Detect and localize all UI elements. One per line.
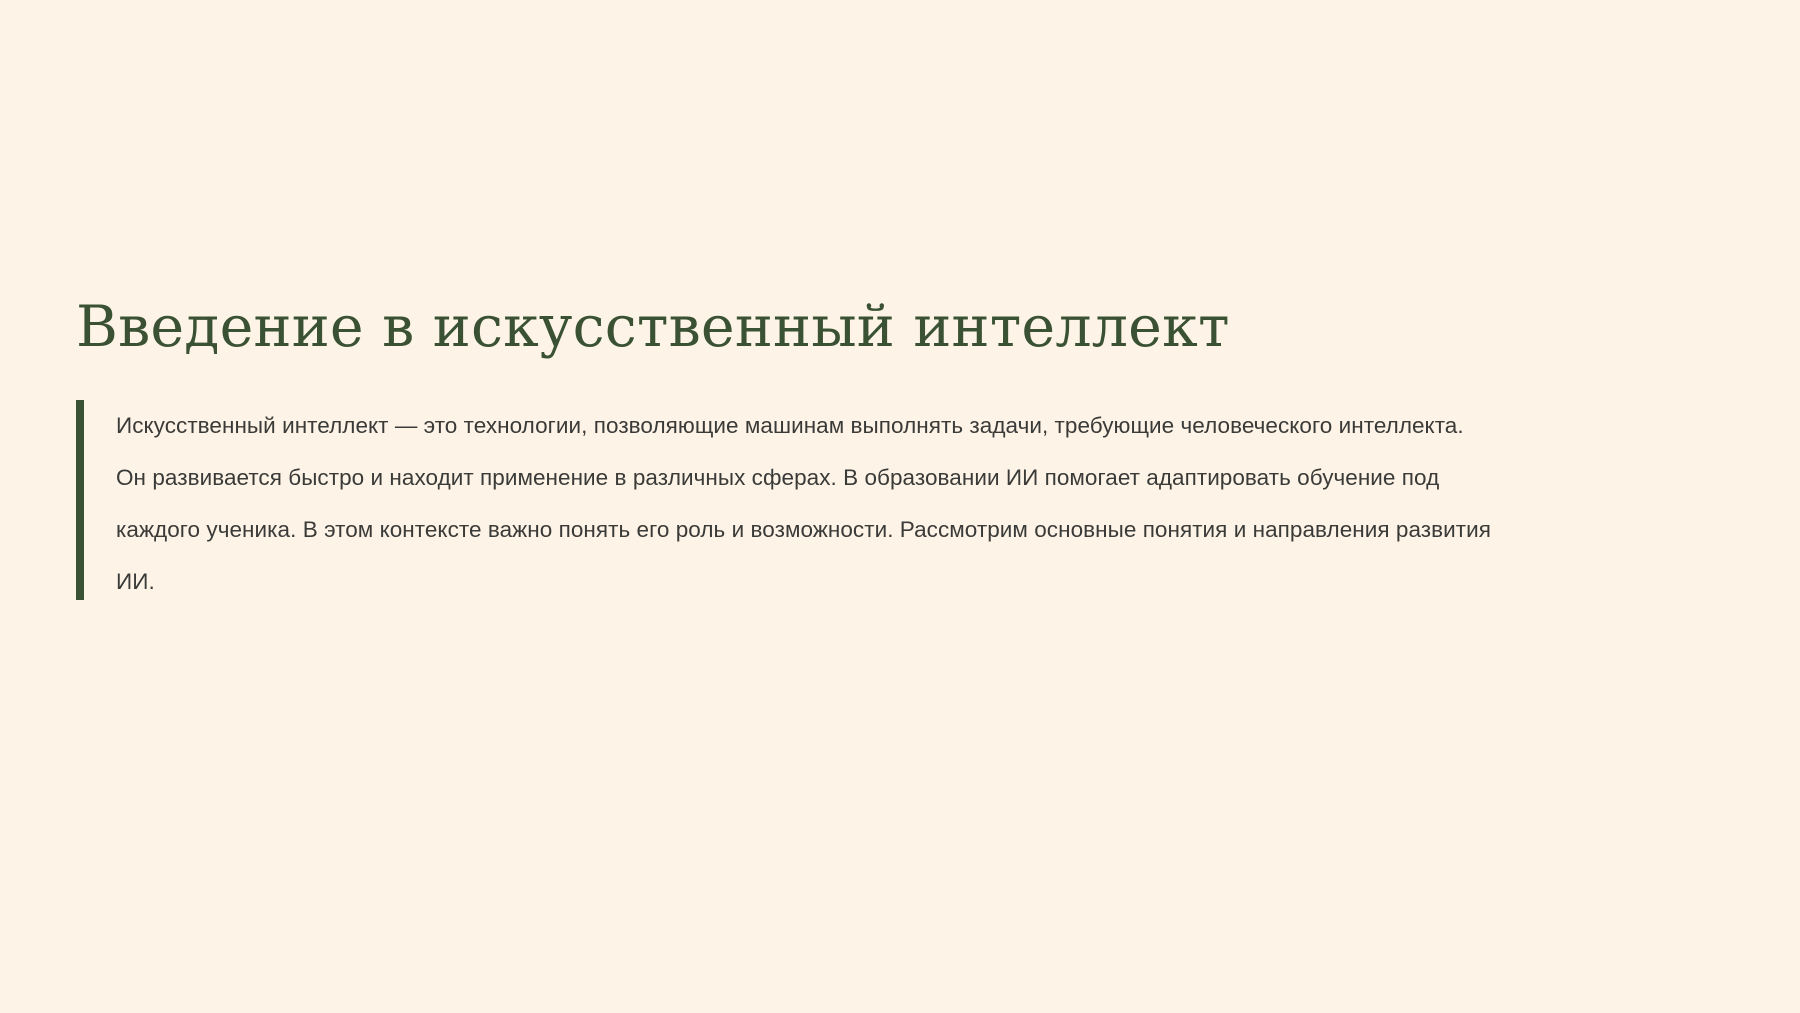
slide-canvas: Введение в искусственный интеллект Искус…: [0, 0, 1800, 1013]
body-quote-block: Искусственный интеллект — это технологии…: [76, 400, 1496, 608]
page-title: Введение в искусственный интеллект: [76, 296, 1496, 360]
accent-bar: [76, 400, 84, 600]
body-paragraph: Искусственный интеллект — это технологии…: [116, 400, 1496, 608]
slide-content-block: Введение в искусственный интеллект Искус…: [76, 296, 1496, 608]
